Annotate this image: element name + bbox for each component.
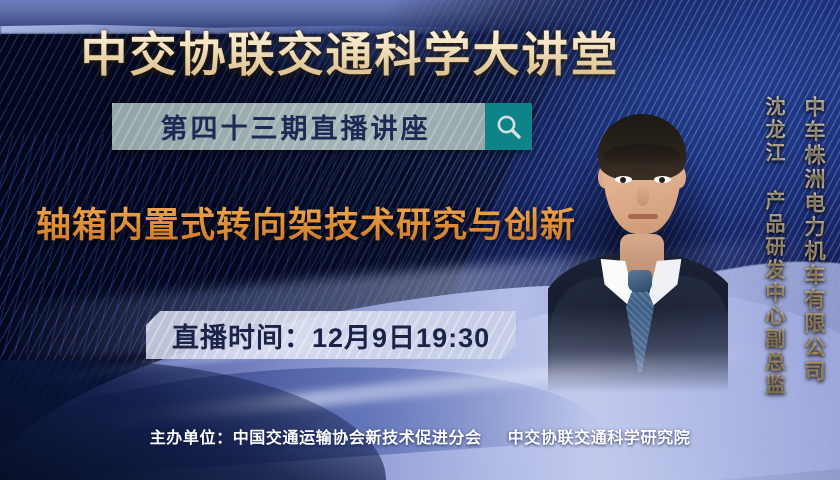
broadcast-time-badge: 直播时间：12月9日19:30 [146, 311, 516, 359]
portrait-mouth [628, 214, 658, 219]
footer-organizer-primary: 主办单位：中国交通运输协会新技术促进分会 [150, 430, 482, 447]
search-icon[interactable] [485, 103, 532, 150]
session-label: 第四十三期直播讲座 [112, 107, 485, 146]
portrait-pupil-left [620, 177, 626, 183]
speaker-company: 中车株洲电力机车有限公司 [798, 96, 828, 384]
page-title: 中交协联交通科学大讲堂 [0, 16, 700, 85]
portrait-tie-knot [628, 270, 652, 292]
lecture-topic-title: 轴箱内置式转向架技术研究与创新 [36, 197, 576, 248]
portrait-nose [637, 184, 649, 206]
footer-organizer-secondary: 中交协联交通科学研究院 [508, 430, 691, 447]
session-search-bar[interactable]: 第四十三期直播讲座 [112, 103, 532, 150]
portrait-pupil-right [659, 177, 665, 183]
speaker-name-role: 沈龙江 产品研发中心副总监 [759, 96, 788, 397]
footer-organizers: 主办单位：中国交通运输协会新技术促进分会中交协联交通科学研究院 [0, 424, 840, 448]
portrait-chin-shading [620, 220, 666, 236]
broadcast-time-text: 直播时间：12月9日19:30 [172, 316, 490, 355]
livestream-poster: 中交协联交通科学大讲堂 第四十三期直播讲座 轴箱内置式转向架技术研究与创新 直播… [0, 0, 840, 480]
